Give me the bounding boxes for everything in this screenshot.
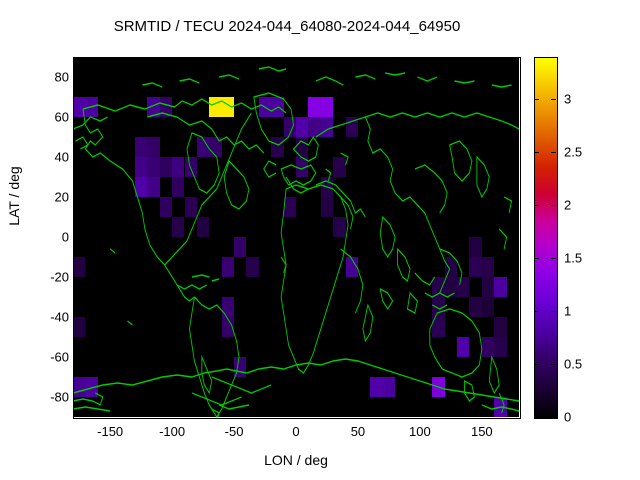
colorbar-tick-mark [551,417,556,418]
y-axis-label: LAT / deg [6,146,22,246]
colorbar-tick-label: 2 [564,198,571,213]
x-tick-label: 150 [471,424,493,439]
x-tick-label: -150 [97,424,123,439]
map-plot-area [73,57,519,417]
colorbar-tick-mark [534,258,539,259]
colorbar-tick-mark [534,311,539,312]
coastline-overlay [73,57,519,417]
colorbar-ticks: 00.511.522.53 [534,57,624,417]
x-tick-label: -50 [225,424,244,439]
x-tick-label: 100 [409,424,431,439]
y-tick-label: -40 [35,310,69,325]
colorbar-tick-mark [534,152,539,153]
y-tick-label: -60 [35,350,69,365]
colorbar-tick-label: 1 [564,304,571,319]
x-tick-label: 50 [351,424,365,439]
colorbar-tick-mark [534,417,539,418]
figure-title: SRMTID / TECU 2024-044_64080-2024-044_64… [0,18,574,35]
y-tick-label: 60 [35,110,69,125]
colorbar-tick-label: 0.5 [564,357,582,372]
colorbar-tick-label: 0 [564,410,571,425]
x-axis-ticks: -150-100-50050100150 [73,424,519,444]
y-tick-label: -80 [35,390,69,405]
colorbar-tick-mark [551,205,556,206]
colorbar-tick-mark [551,311,556,312]
colorbar-tick-mark [551,99,556,100]
y-tick-label: 80 [35,70,69,85]
colorbar-tick-mark [551,152,556,153]
colorbar-tick-mark [534,99,539,100]
colorbar-tick-mark [551,364,556,365]
y-tick-label: -20 [35,270,69,285]
colorbar-tick-mark [551,258,556,259]
y-axis-ticks: 806040200-20-40-60-80 [31,57,69,417]
colorbar-tick-label: 2.5 [564,145,582,160]
colorbar-tick-label: 3 [564,92,571,107]
tid-map-figure: SRMTID / TECU 2024-044_64080-2024-044_64… [0,0,640,480]
y-tick-label: 40 [35,150,69,165]
x-tick-label: 0 [292,424,299,439]
y-tick-label: 20 [35,190,69,205]
x-tick-label: -100 [159,424,185,439]
y-tick-label: 0 [35,230,69,245]
colorbar-tick-mark [534,364,539,365]
colorbar-tick-mark [534,205,539,206]
x-axis-label: LON / deg [73,452,519,468]
colorbar-tick-label: 1.5 [564,251,582,266]
